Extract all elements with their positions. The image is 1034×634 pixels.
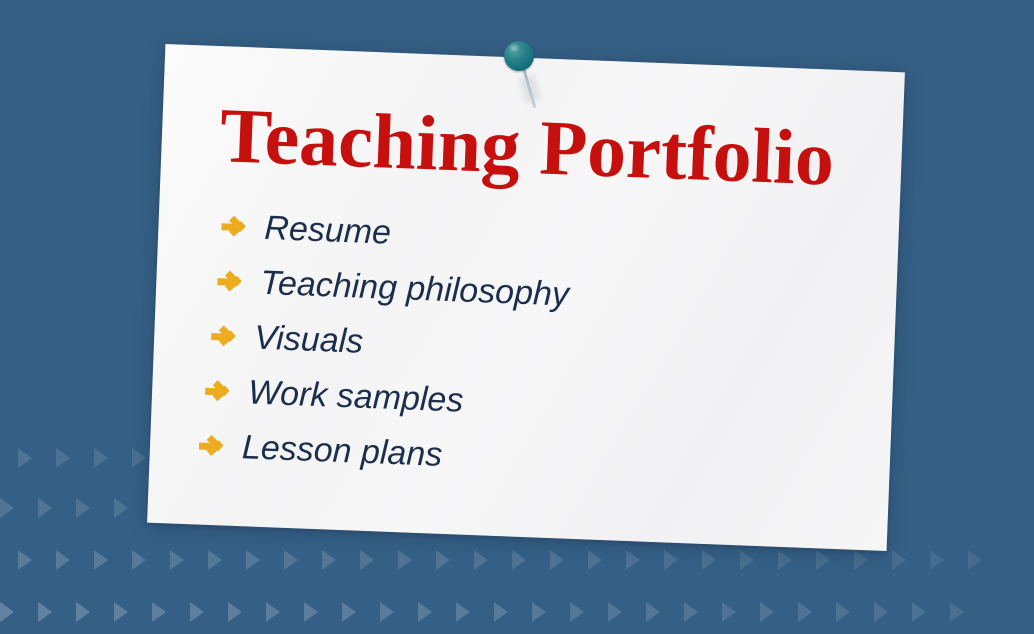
triangle-glyph [56,550,70,570]
triangle-glyph [816,550,830,570]
triangle-glyph [132,448,146,468]
pin-highlight [510,45,518,51]
triangle-glyph [874,602,888,622]
triangle-glyph [418,602,432,622]
slide-canvas: Teaching Portfolio Resume Teaching philo… [0,0,1034,634]
triangle-glyph [360,550,374,570]
triangle-glyph [588,550,602,570]
triangle-glyph [228,602,242,622]
triangle-glyph [56,448,70,468]
triangle-glyph [342,602,356,622]
triangle-glyph [94,448,108,468]
triangle-glyph [778,550,792,570]
list-item-label: Lesson plans [241,428,443,474]
triangle-glyph [304,602,318,622]
triangle-glyph [38,498,52,518]
arrow-right-icon [220,214,255,239]
triangle-glyph [246,550,260,570]
triangle-glyph [684,602,698,622]
triangle-glyph [18,550,32,570]
triangle-glyph [626,550,640,570]
triangle-glyph [76,602,90,622]
triangle-glyph [968,550,982,570]
list-item-label: Resume [264,208,392,251]
triangle-glyph [892,550,906,570]
triangle-glyph [114,498,128,518]
triangle-glyph [474,550,488,570]
portfolio-list: Resume Teaching philosophy Visuals [197,198,867,498]
triangle-glyph [284,550,298,570]
triangle-glyph [76,498,90,518]
triangle-glyph [132,550,146,570]
triangle-glyph [836,602,850,622]
triangle-glyph [18,448,32,468]
triangle-glyph [570,602,584,622]
triangle-glyph [380,602,394,622]
arrow-right-icon [198,433,233,458]
arrow-right-icon [204,378,239,403]
pin-head [504,41,534,71]
triangle-glyph [322,550,336,570]
page-title: Teaching Portfolio [218,92,835,202]
list-item-label: Teaching philosophy [260,263,570,313]
triangle-glyph [702,550,716,570]
triangle-glyph [798,602,812,622]
arrow-right-icon [210,323,245,348]
triangle-glyph [190,602,204,622]
list-item-label: Work samples [247,373,464,419]
triangle-glyph [722,602,736,622]
triangle-glyph [170,550,184,570]
portfolio-card: Teaching Portfolio Resume Teaching philo… [147,44,905,551]
triangle-glyph [950,602,964,622]
triangle-glyph [456,602,470,622]
triangle-glyph [152,602,166,622]
triangle-glyph [0,498,14,518]
triangle-glyph [94,550,108,570]
list-item-label: Visuals [254,318,364,360]
triangle-glyph [512,550,526,570]
triangle-glyph [436,550,450,570]
triangle-glyph [912,602,926,622]
triangle-glyph [760,602,774,622]
triangle-glyph [608,602,622,622]
triangle-glyph [208,550,222,570]
triangle-glyph [740,550,754,570]
triangle-glyph [664,550,678,570]
triangle-glyph [38,602,52,622]
triangle-pattern-row [0,602,1034,624]
triangle-glyph [930,550,944,570]
triangle-glyph [646,602,660,622]
triangle-glyph [398,550,412,570]
triangle-glyph [532,602,546,622]
triangle-glyph [550,550,564,570]
push-pin-icon [495,36,555,108]
triangle-glyph [0,602,14,622]
triangle-glyph [266,602,280,622]
arrow-right-icon [216,269,251,294]
triangle-glyph [494,602,508,622]
triangle-glyph [114,602,128,622]
